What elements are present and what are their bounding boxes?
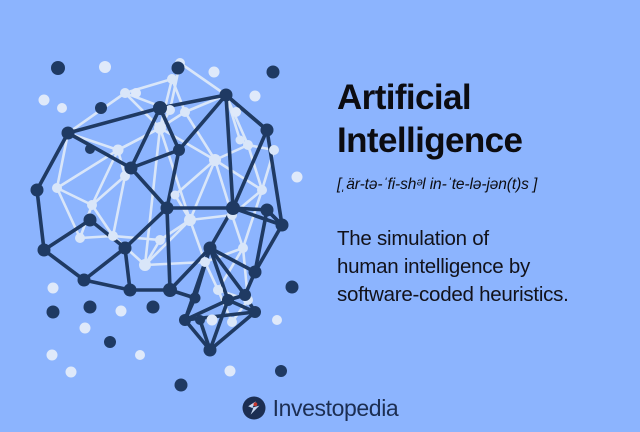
definition-text-column: Artificial Intelligence [ˌär-tə-ˈfi-shᵊl… — [337, 76, 627, 309]
investopedia-logo-icon — [242, 396, 266, 420]
neural-network-brain-illustration — [0, 0, 330, 400]
definition-card: Artificial Intelligence [ˌär-tə-ˈfi-shᵊl… — [0, 0, 640, 432]
definition-text: The simulation of human intelligence by … — [337, 225, 627, 309]
page-title: Artificial Intelligence — [337, 76, 627, 162]
pronunciation-text: [ˌär-tə-ˈfi-shᵊl in-ˈte-lə-jən(t)s ] — [337, 175, 627, 195]
investopedia-wordmark: Investopedia — [273, 397, 399, 420]
brand-footer: Investopedia — [0, 396, 640, 420]
